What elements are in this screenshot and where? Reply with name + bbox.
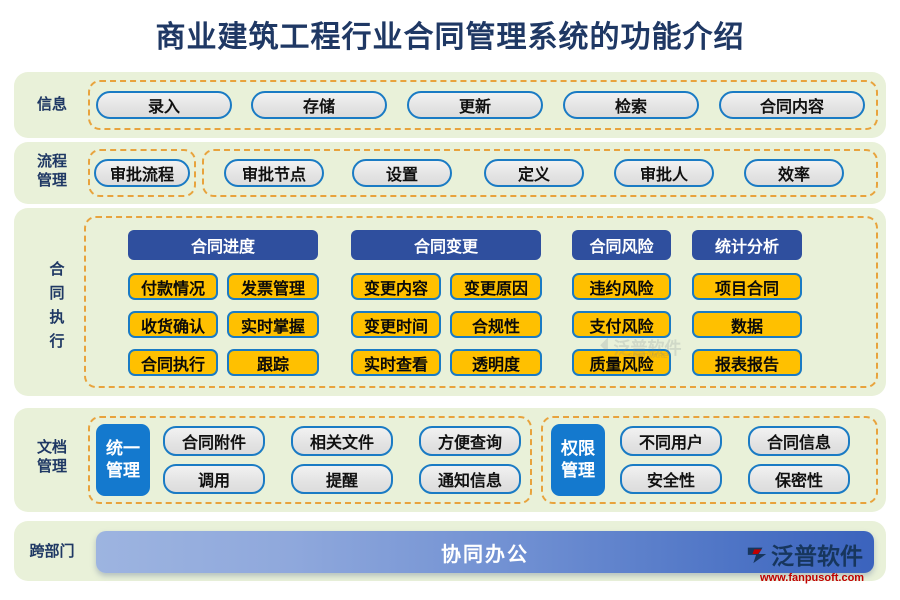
- brand-url: www.fanpusoft.com: [760, 572, 864, 584]
- document-item-2[interactable]: 方便查询: [419, 426, 521, 456]
- exec-label-char-0: 合: [46, 258, 68, 282]
- permission-item-2[interactable]: 安全性: [620, 464, 722, 494]
- exec-col-1-item-1[interactable]: 变更原因: [450, 273, 542, 300]
- fanpu-arrow-icon: [746, 543, 768, 565]
- info-item-2[interactable]: 更新: [407, 91, 543, 119]
- process-item-2[interactable]: 定义: [484, 159, 584, 187]
- exec-col-2-item-1[interactable]: 支付风险: [572, 311, 671, 338]
- exec-col-0-item-5[interactable]: 跟踪: [227, 349, 319, 376]
- exec-col-0-item-3[interactable]: 实时掌握: [227, 311, 319, 338]
- info-item-4[interactable]: 合同内容: [719, 91, 865, 119]
- exec-label-char-1: 同: [46, 282, 68, 306]
- exec-col-0-item-0[interactable]: 付款情况: [128, 273, 218, 300]
- exec-col-0-header[interactable]: 合同进度: [128, 230, 318, 260]
- document-item-4[interactable]: 提醒: [291, 464, 393, 494]
- exec-col-1-item-0[interactable]: 变更内容: [351, 273, 441, 300]
- document-lead-unified-management[interactable]: 统一 管理: [96, 424, 150, 496]
- exec-col-3-item-0[interactable]: 项目合同: [692, 273, 802, 300]
- process-item-1[interactable]: 设置: [352, 159, 452, 187]
- document-lead-permission-management[interactable]: 权限 管理: [551, 424, 605, 496]
- exec-label-char-2: 执: [46, 306, 68, 330]
- brand-name: 泛普软件: [771, 537, 863, 571]
- document-item-0[interactable]: 合同附件: [163, 426, 265, 456]
- page-title: 商业建筑工程行业合同管理系统的功能介绍: [0, 12, 900, 56]
- exec-col-3-item-1[interactable]: 数据: [692, 311, 802, 338]
- process-item-approval-flow[interactable]: 审批流程: [94, 159, 190, 187]
- document-item-1[interactable]: 相关文件: [291, 426, 393, 456]
- section-label-info: 信息: [22, 96, 82, 115]
- exec-label-char-3: 行: [46, 330, 68, 354]
- info-item-3[interactable]: 检索: [563, 91, 699, 119]
- infographic-canvas: 商业建筑工程行业合同管理系统的功能介绍 信息 录入 存储 更新 检索 合同内容 …: [0, 0, 900, 600]
- exec-col-1-item-4[interactable]: 实时查看: [351, 349, 441, 376]
- exec-col-1-header[interactable]: 合同变更: [351, 230, 541, 260]
- exec-col-1-item-5[interactable]: 透明度: [450, 349, 542, 376]
- section-label-process: 流程 管理: [22, 153, 82, 191]
- permission-item-1[interactable]: 合同信息: [748, 426, 850, 456]
- section-label-cross: 跨部门: [14, 543, 90, 562]
- exec-col-0-item-1[interactable]: 发票管理: [227, 273, 319, 300]
- exec-col-2-item-0[interactable]: 违约风险: [572, 273, 671, 300]
- process-item-0[interactable]: 审批节点: [224, 159, 324, 187]
- exec-col-3-header[interactable]: 统计分析: [692, 230, 802, 260]
- process-item-4[interactable]: 效率: [744, 159, 844, 187]
- permission-item-0[interactable]: 不同用户: [620, 426, 722, 456]
- process-item-3[interactable]: 审批人: [614, 159, 714, 187]
- exec-col-2-header[interactable]: 合同风险: [572, 230, 671, 260]
- exec-col-0-item-2[interactable]: 收货确认: [128, 311, 218, 338]
- exec-col-1-item-2[interactable]: 变更时间: [351, 311, 441, 338]
- document-item-5[interactable]: 通知信息: [419, 464, 521, 494]
- info-item-1[interactable]: 存储: [251, 91, 387, 119]
- exec-col-3-item-2[interactable]: 报表报告: [692, 349, 802, 376]
- section-label-document: 文档 管理: [22, 439, 82, 477]
- exec-col-2-item-2[interactable]: 质量风险: [572, 349, 671, 376]
- brand-logo: 泛普软件 www.fanpusoft.com: [746, 537, 864, 584]
- info-item-0[interactable]: 录入: [96, 91, 232, 119]
- document-item-3[interactable]: 调用: [163, 464, 265, 494]
- permission-item-3[interactable]: 保密性: [748, 464, 850, 494]
- section-label-execution: 合 同 执 行: [46, 258, 68, 354]
- exec-col-0-item-4[interactable]: 合同执行: [128, 349, 218, 376]
- exec-col-1-item-3[interactable]: 合规性: [450, 311, 542, 338]
